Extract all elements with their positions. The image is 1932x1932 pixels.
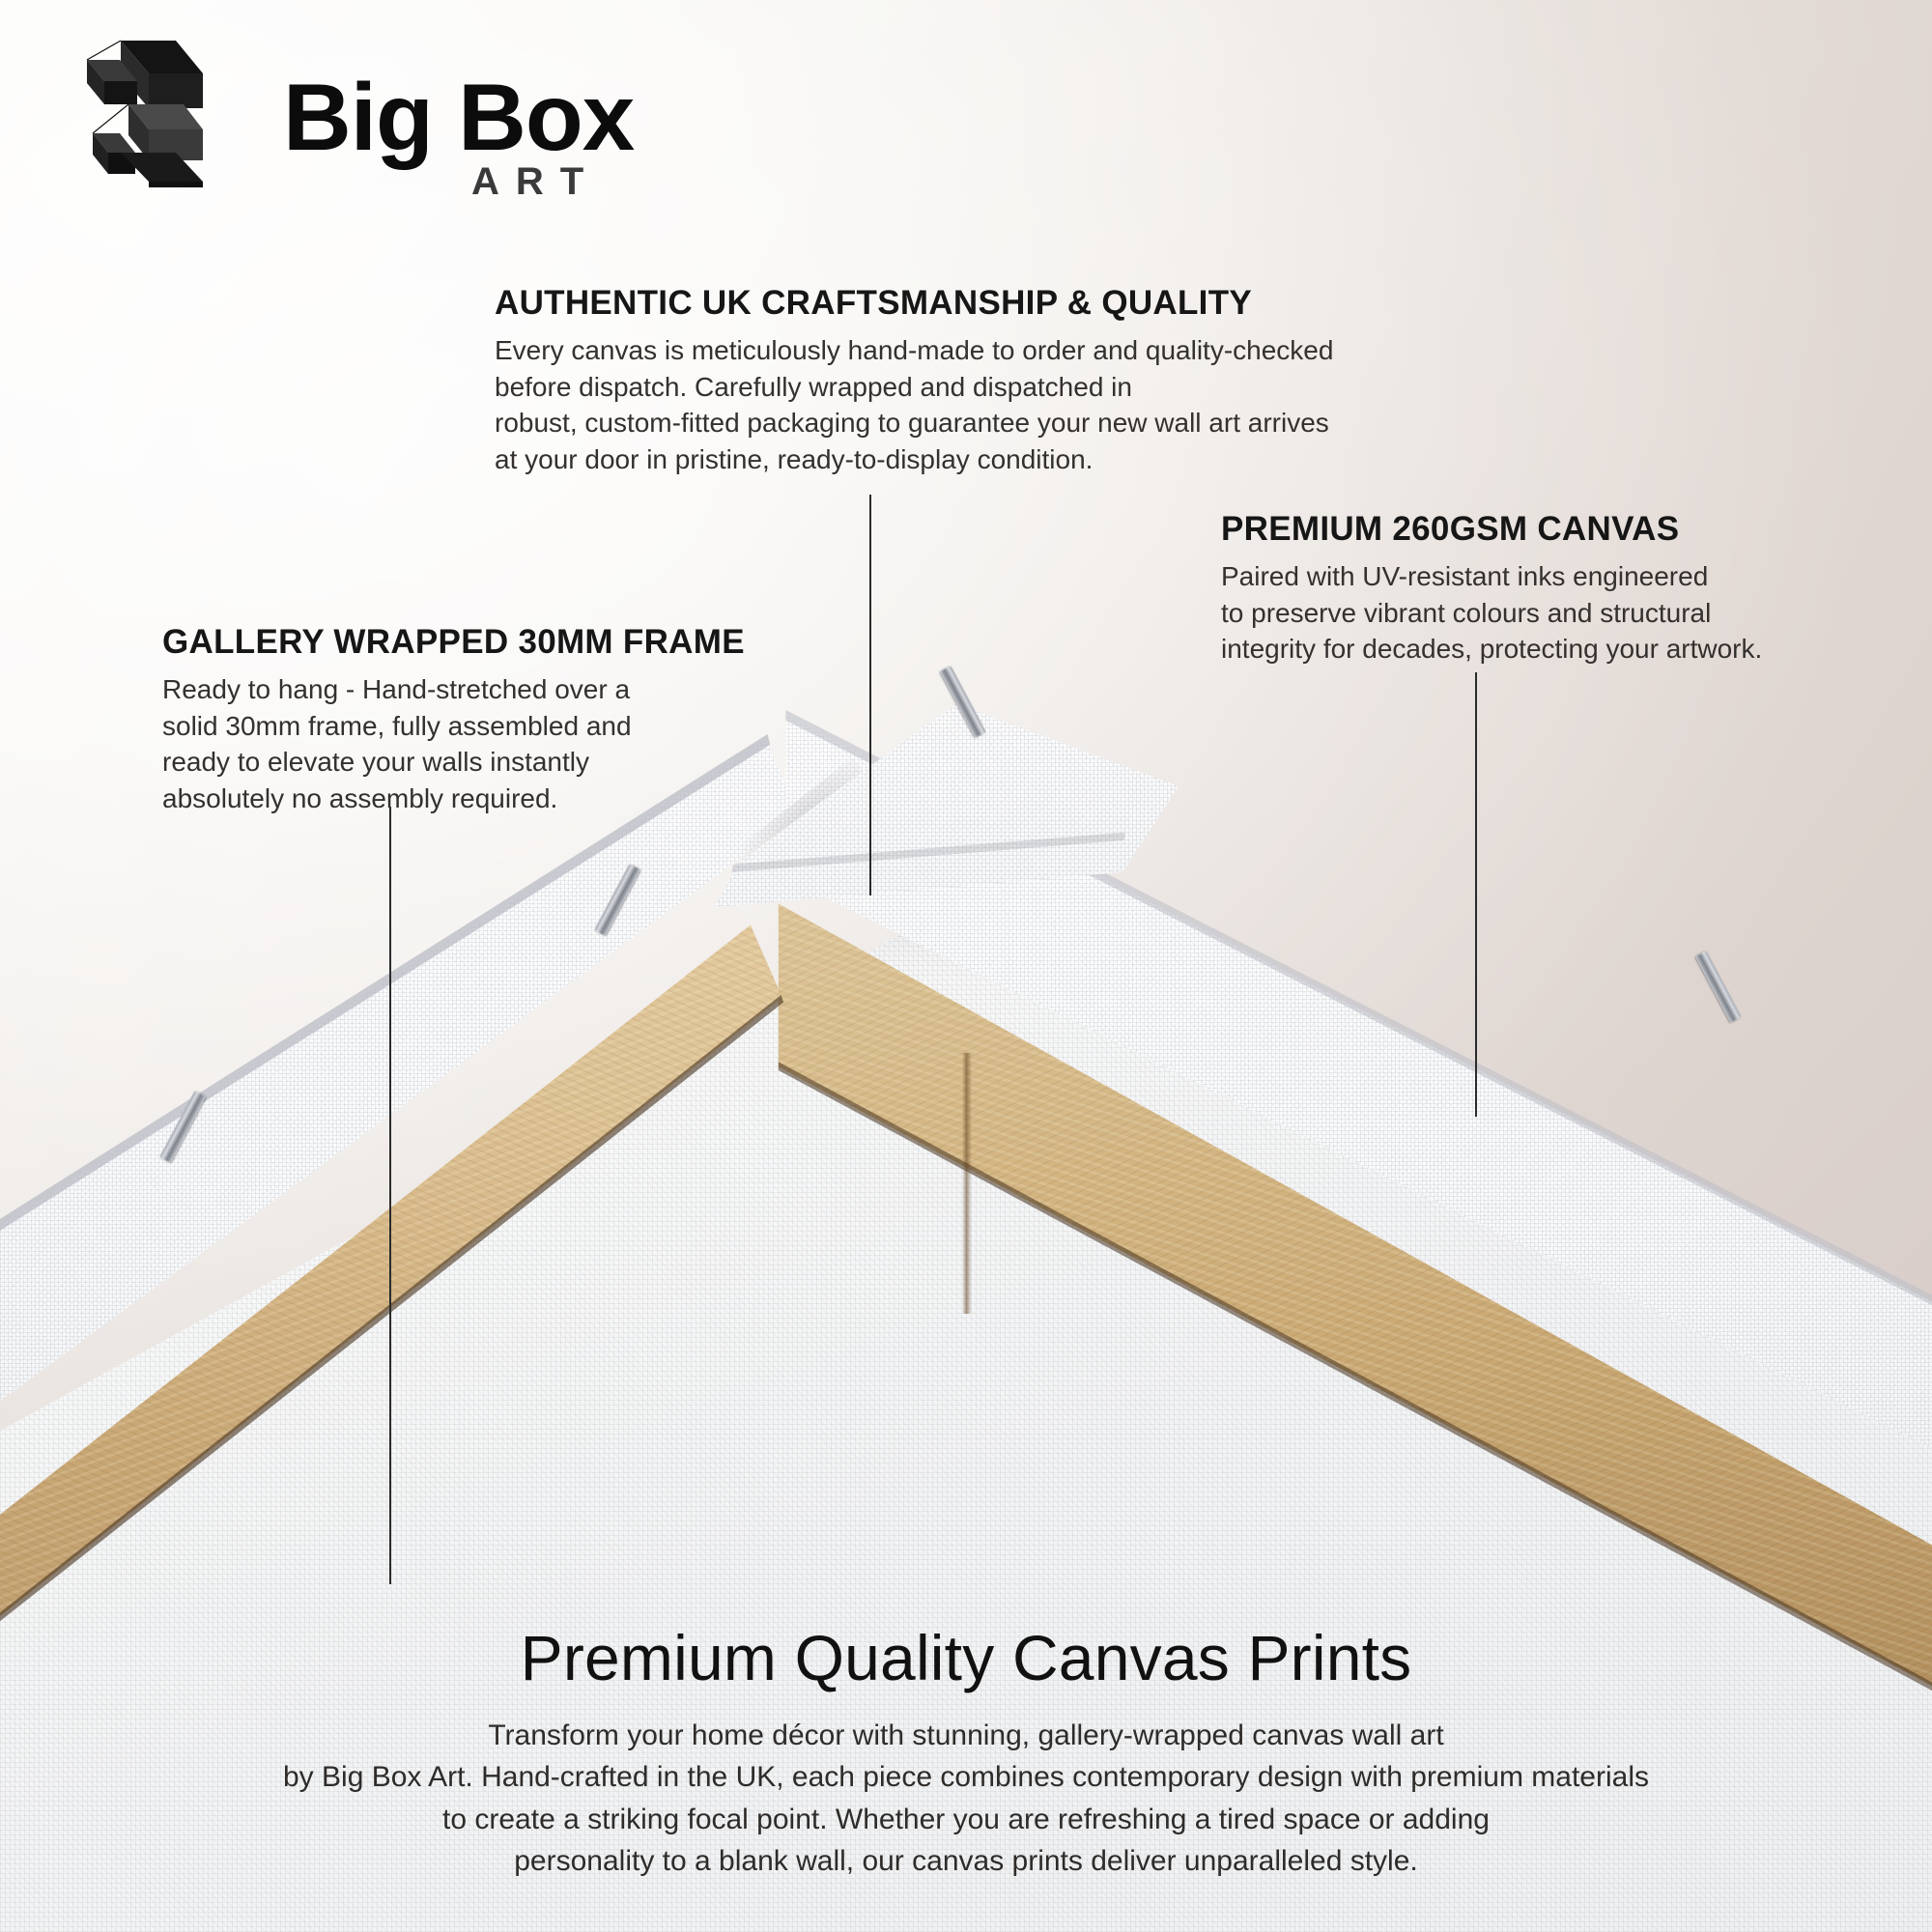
footer-body-line: Transform your home décor with stunning,…: [0, 1715, 1932, 1757]
callout-body-line: to preserve vibrant colours and structur…: [1221, 595, 1762, 632]
callout-body-line: at your door in pristine, ready-to-displ…: [495, 441, 1333, 478]
brand-wordmark: Big Box: [283, 70, 634, 164]
footer-body-line: by Big Box Art. Hand-crafted in the UK, …: [0, 1756, 1932, 1799]
callout-body-line: robust, custom-fitted packaging to guara…: [495, 405, 1333, 441]
callout-body-line: solid 30mm frame, fully assembled and: [162, 708, 745, 745]
callout-body-line: integrity for decades, protecting your a…: [1221, 631, 1762, 668]
callout-heading: PREMIUM 260GSM CANVAS: [1221, 510, 1762, 549]
callout-body: Paired with UV-resistant inks engineered…: [1221, 558, 1762, 668]
callout-authentic-uk-craftsmanship: AUTHENTIC UK CRAFTSMANSHIP & QUALITY Eve…: [495, 284, 1333, 477]
callout-premium-260gsm-canvas: PREMIUM 260GSM CANVAS Paired with UV-res…: [1221, 510, 1762, 668]
callout-body: Ready to hang - Hand-stretched over a so…: [162, 671, 745, 816]
callout-body-line: Paired with UV-resistant inks engineered: [1221, 558, 1762, 595]
footer-body-line: to create a striking focal point. Whethe…: [0, 1799, 1932, 1841]
footer-heading: Premium Quality Canvas Prints: [0, 1623, 1932, 1693]
footer-body: Transform your home décor with stunning,…: [0, 1715, 1932, 1883]
callout-body-line: before dispatch. Carefully wrapped and d…: [495, 369, 1333, 406]
brand-subtitle: ART: [471, 162, 600, 201]
callout-body: Every canvas is meticulously hand-made t…: [495, 332, 1333, 477]
callout-gallery-wrapped-frame: GALLERY WRAPPED 30MM FRAME Ready to hang…: [162, 623, 745, 816]
brand-logo[interactable]: Big Box ART: [75, 37, 655, 191]
callout-body-line: ready to elevate your walls instantly: [162, 744, 745, 781]
callout-body-line: absolutely no assembly required.: [162, 781, 745, 817]
footer-block: Premium Quality Canvas Prints Transform …: [0, 1623, 1932, 1883]
infographic-canvas: Big Box ART AUTHENTIC UK CRAFTSMANSHIP &…: [0, 0, 1932, 1932]
callout-body-line: Every canvas is meticulously hand-made t…: [495, 332, 1333, 369]
callout-heading: GALLERY WRAPPED 30MM FRAME: [162, 623, 745, 662]
footer-body-line: personality to a blank wall, our canvas …: [0, 1840, 1932, 1883]
big-box-isometric-blocks-icon: [75, 37, 211, 187]
callout-heading: AUTHENTIC UK CRAFTSMANSHIP & QUALITY: [495, 284, 1333, 323]
text-overlay: Big Box ART AUTHENTIC UK CRAFTSMANSHIP &…: [0, 0, 1932, 1932]
callout-body-line: Ready to hang - Hand-stretched over a: [162, 671, 745, 708]
